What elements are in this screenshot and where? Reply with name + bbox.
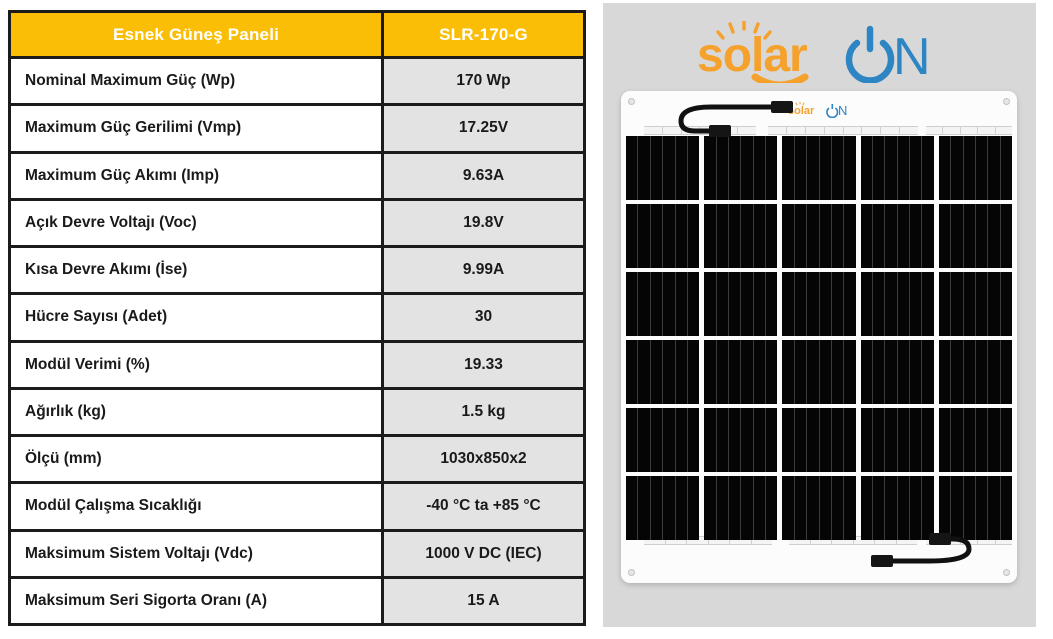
spec-label-cell: Modül Çalışma Sıcaklığı bbox=[10, 483, 383, 530]
table-row: Maksimum Seri Sigorta Oranı (A)15 A bbox=[10, 577, 585, 624]
table-row: Ölçü (mm)1030x850x2 bbox=[10, 436, 585, 483]
spec-label-cell: Kısa Devre Akımı (İse) bbox=[10, 247, 383, 294]
grommet-bottom-left-icon bbox=[628, 569, 635, 576]
solar-cell bbox=[861, 136, 934, 200]
table-body: Nominal Maximum Güç (Wp)170 WpMaximum Gü… bbox=[10, 58, 585, 625]
solaron-logo: solar N bbox=[603, 19, 1036, 85]
header-product-name: Esnek Güneş Paneli bbox=[10, 12, 383, 58]
cable-bottom-right bbox=[853, 531, 1013, 579]
spec-value-cell: 1000 V DC (IEC) bbox=[383, 530, 585, 577]
header-model-code: SLR-170-G bbox=[383, 12, 585, 58]
spec-label-cell: Açık Devre Voltajı (Voc) bbox=[10, 199, 383, 246]
mc4-connector-male-icon bbox=[929, 533, 951, 545]
specifications-table-container: Esnek Güneş Paneli SLR-170-G Nominal Max… bbox=[8, 10, 583, 626]
product-spec-screenshot: Esnek Güneş Paneli SLR-170-G Nominal Max… bbox=[0, 0, 1053, 639]
solar-cell bbox=[704, 476, 777, 540]
product-image-pane: solar N bbox=[603, 3, 1036, 627]
mc4-connector-female-icon bbox=[871, 555, 893, 567]
table-row: Ağırlık (kg)1.5 kg bbox=[10, 388, 585, 435]
table-row: Açık Devre Voltajı (Voc)19.8V bbox=[10, 199, 585, 246]
solar-cell bbox=[626, 136, 699, 200]
spec-value-cell: 17.25V bbox=[383, 105, 585, 152]
solar-cell bbox=[939, 136, 1012, 200]
spec-value-cell: 30 bbox=[383, 294, 585, 341]
solar-cell bbox=[939, 340, 1012, 404]
solar-cell bbox=[782, 136, 855, 200]
cell-row bbox=[626, 136, 1012, 200]
solar-cell bbox=[704, 136, 777, 200]
mc4-connector-female-icon bbox=[709, 125, 731, 137]
spec-label-cell: Nominal Maximum Güç (Wp) bbox=[10, 58, 383, 105]
spec-value-cell: 170 Wp bbox=[383, 58, 585, 105]
spec-label-cell: Maksimum Seri Sigorta Oranı (A) bbox=[10, 577, 383, 624]
solar-cell bbox=[626, 272, 699, 336]
spec-label-cell: Maximum Güç Akımı (Imp) bbox=[10, 152, 383, 199]
solar-cell bbox=[704, 408, 777, 472]
mini-power-symbol-icon bbox=[827, 104, 838, 117]
spec-value-cell: 19.33 bbox=[383, 341, 585, 388]
spec-value-cell: 19.8V bbox=[383, 199, 585, 246]
spec-label-cell: Hücre Sayısı (Adet) bbox=[10, 294, 383, 341]
table-row: Modül Verimi (%)19.33 bbox=[10, 341, 585, 388]
table-row: Hücre Sayısı (Adet)30 bbox=[10, 294, 585, 341]
solar-cell bbox=[939, 204, 1012, 268]
solar-cell bbox=[861, 340, 934, 404]
solar-cell bbox=[861, 272, 934, 336]
spec-value-cell: 9.63A bbox=[383, 152, 585, 199]
solar-cell bbox=[704, 204, 777, 268]
spec-value-cell: 9.99A bbox=[383, 247, 585, 294]
table-row: Nominal Maximum Güç (Wp)170 Wp bbox=[10, 58, 585, 105]
spec-label-cell: Maksimum Sistem Voltajı (Vdc) bbox=[10, 530, 383, 577]
solar-cell bbox=[704, 272, 777, 336]
photovoltaic-cell-grid bbox=[626, 136, 1012, 540]
solaron-logo-svg: solar N bbox=[697, 21, 943, 83]
cell-row bbox=[626, 204, 1012, 268]
spec-label-cell: Maximum Güç Gerilimi (Vmp) bbox=[10, 105, 383, 152]
spec-value-cell: -40 °C ta +85 °C bbox=[383, 483, 585, 530]
table-row: Maximum Güç Gerilimi (Vmp)17.25V bbox=[10, 105, 585, 152]
solar-cell bbox=[861, 204, 934, 268]
spec-value-cell: 15 A bbox=[383, 577, 585, 624]
solar-cell bbox=[782, 340, 855, 404]
table-row: Modül Çalışma Sıcaklığı-40 °C ta +85 °C bbox=[10, 483, 585, 530]
spec-value-cell: 1.5 kg bbox=[383, 388, 585, 435]
solar-cell bbox=[626, 408, 699, 472]
solar-cell bbox=[782, 408, 855, 472]
solar-cell bbox=[939, 272, 1012, 336]
solar-panel-product-image: solar N bbox=[621, 91, 1017, 583]
spec-value-cell: 1030x850x2 bbox=[383, 436, 585, 483]
cell-row bbox=[626, 340, 1012, 404]
cell-row bbox=[626, 272, 1012, 336]
table-header-row: Esnek Güneş Paneli SLR-170-G bbox=[10, 12, 585, 58]
power-symbol-icon bbox=[849, 29, 891, 80]
solar-cell bbox=[626, 476, 699, 540]
solar-cell bbox=[782, 204, 855, 268]
table-header: Esnek Güneş Paneli SLR-170-G bbox=[10, 12, 585, 58]
cable-top-left bbox=[659, 97, 809, 142]
spec-label-cell: Ağırlık (kg) bbox=[10, 388, 383, 435]
solar-cell bbox=[626, 204, 699, 268]
table-row: Kısa Devre Akımı (İse)9.99A bbox=[10, 247, 585, 294]
busbar-ribbon-top-right bbox=[926, 126, 1012, 135]
table-row: Maximum Güç Akımı (Imp)9.63A bbox=[10, 152, 585, 199]
mini-logo-letter-n: N bbox=[838, 103, 847, 118]
solar-cell bbox=[782, 476, 855, 540]
specifications-table: Esnek Güneş Paneli SLR-170-G Nominal Max… bbox=[8, 10, 586, 626]
cell-row bbox=[626, 408, 1012, 472]
solar-cell bbox=[861, 408, 934, 472]
solar-cell bbox=[626, 340, 699, 404]
table-row: Maksimum Sistem Voltajı (Vdc)1000 V DC (… bbox=[10, 530, 585, 577]
mc4-connector-male-icon bbox=[771, 101, 793, 113]
logo-word-solar: solar bbox=[697, 29, 807, 82]
spec-label-cell: Ölçü (mm) bbox=[10, 436, 383, 483]
solar-cell bbox=[704, 340, 777, 404]
spec-label-cell: Modül Verimi (%) bbox=[10, 341, 383, 388]
solar-cell bbox=[939, 408, 1012, 472]
solar-cell bbox=[782, 272, 855, 336]
logo-letter-n: N bbox=[893, 28, 931, 83]
